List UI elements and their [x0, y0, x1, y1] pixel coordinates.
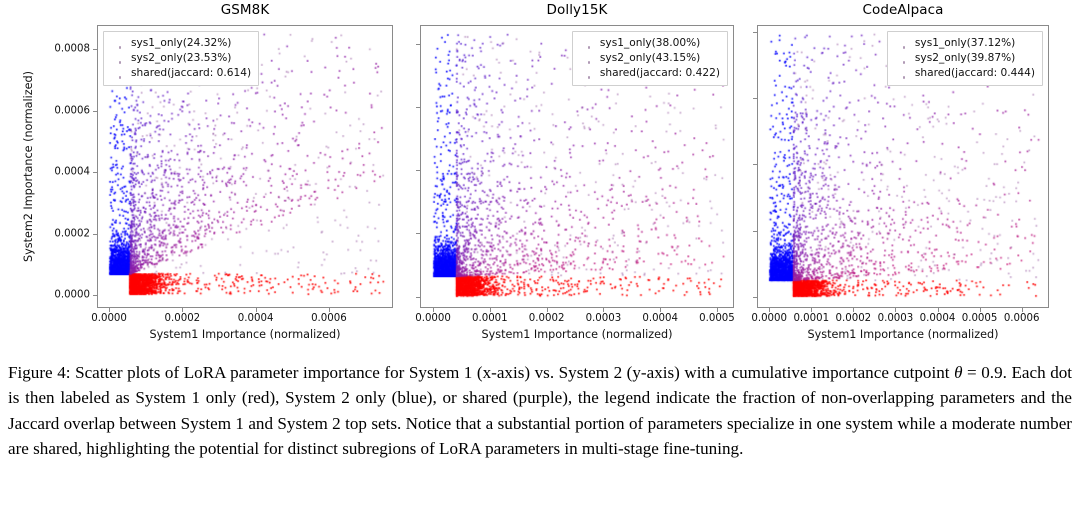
- caption-text-part1: Scatter plots of LoRA parameter importan…: [75, 363, 954, 382]
- x-tick-mark: [769, 308, 770, 312]
- x-tick-mark: [980, 308, 981, 312]
- legend-label: shared(jaccard: 0.422): [600, 66, 720, 81]
- legend-item: shared(jaccard: 0.614): [109, 66, 251, 81]
- y-tick-mark: [753, 32, 757, 33]
- y-tick-mark: [753, 98, 757, 99]
- caption-label: Figure 4:: [8, 363, 71, 382]
- legend-marker-dot-icon: [893, 64, 915, 83]
- legend-marker-dot-icon: [109, 64, 131, 83]
- panel-title: CodeAlpaca: [757, 2, 1049, 18]
- y-tick-mark: [753, 164, 757, 165]
- legend-label: sys2_only(39.87%): [915, 51, 1015, 66]
- legend-label: sys1_only(37.12%): [915, 36, 1015, 51]
- chart-legend: sys1_only(24.32%)sys2_only(23.53%)shared…: [103, 31, 259, 86]
- legend-item: shared(jaccard: 0.444): [893, 66, 1035, 81]
- chart-legend: sys1_only(37.12%)sys2_only(39.87%)shared…: [887, 31, 1043, 86]
- x-tick-label: 0.0004: [920, 313, 956, 324]
- x-axis-title: System1 Importance (normalized): [757, 328, 1049, 341]
- figure-panel-group: GSM8Ksys1_only(24.32%)sys2_only(23.53%)s…: [0, 0, 1080, 350]
- x-tick-mark: [938, 308, 939, 312]
- x-tick-label: 0.0003: [878, 313, 914, 324]
- x-tick-mark: [1022, 308, 1023, 312]
- y-tick-mark: [753, 231, 757, 232]
- x-tick-label: 0.0000: [751, 313, 787, 324]
- x-tick-label: 0.0002: [836, 313, 872, 324]
- legend-label: shared(jaccard: 0.614): [131, 66, 251, 81]
- legend-label: sys1_only(38.00%): [600, 36, 700, 51]
- y-tick-mark: [753, 297, 757, 298]
- x-tick-mark: [811, 308, 812, 312]
- legend-label: shared(jaccard: 0.444): [915, 66, 1035, 81]
- legend-label: sys2_only(23.53%): [131, 51, 231, 66]
- x-tick-mark: [853, 308, 854, 312]
- x-tick-label: 0.0001: [793, 313, 829, 324]
- caption-theta-value: 0.9: [981, 363, 1002, 382]
- caption-equals: =: [962, 363, 981, 382]
- x-tick-label: 0.0005: [962, 313, 998, 324]
- legend-label: sys1_only(24.32%): [131, 36, 231, 51]
- chart-legend: sys1_only(38.00%)sys2_only(43.15%)shared…: [572, 31, 728, 86]
- legend-item: shared(jaccard: 0.422): [578, 66, 720, 81]
- x-tick-label: 0.0006: [1004, 313, 1040, 324]
- plot-area: sys1_only(37.12%)sys2_only(39.87%)shared…: [757, 25, 1049, 308]
- figure-caption: Figure 4: Scatter plots of LoRA paramete…: [8, 360, 1072, 462]
- legend-label: sys2_only(43.15%): [600, 51, 700, 66]
- x-tick-mark: [895, 308, 896, 312]
- legend-marker-dot-icon: [578, 64, 600, 83]
